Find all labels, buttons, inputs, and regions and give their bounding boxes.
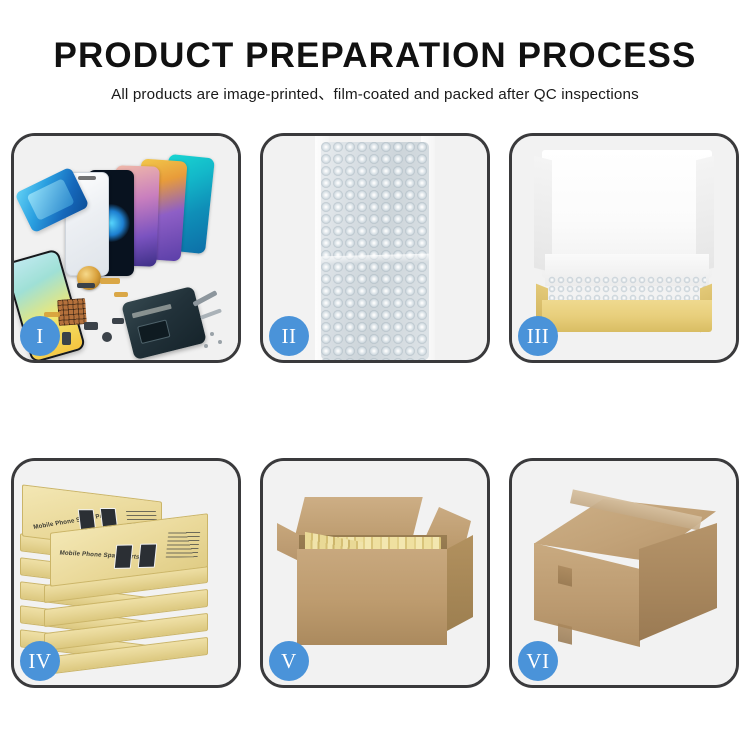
small-part-bracket <box>112 318 124 324</box>
carton-flap-tab-upper <box>558 565 572 586</box>
step-badge-5: V <box>269 641 309 681</box>
step-badge-2: II <box>269 316 309 356</box>
page-subtitle: All products are image-printed、film-coat… <box>0 85 750 105</box>
bubble-wrap-sheet <box>321 142 429 360</box>
step-panel-4: Mobile Phone Spare Parts Mobile Phone Sp… <box>11 458 241 688</box>
box-phone-thumb-front-1 <box>114 544 133 568</box>
screw-3 <box>204 344 208 348</box>
phone-notch <box>78 176 96 180</box>
carton-right-face <box>447 535 473 631</box>
process-steps-grid: I II III <box>11 133 739 688</box>
flex-cable-3 <box>114 292 128 297</box>
step-badge-6: VI <box>518 641 558 681</box>
small-part-connector <box>77 283 95 288</box>
carton-flap-tab-lower <box>558 623 572 644</box>
flex-cable-1 <box>100 278 120 284</box>
step-badge-3: III <box>518 316 558 356</box>
step-panel-5: V <box>260 458 490 688</box>
sealed-carton-front-face <box>534 543 640 647</box>
screw-2 <box>218 340 222 344</box>
step-panel-1: I <box>11 133 241 363</box>
step-panel-3: III <box>509 133 739 363</box>
step-badge-1: I <box>20 316 60 356</box>
chip-array <box>57 298 87 326</box>
screw-1 <box>210 332 214 336</box>
step-panel-6: VI <box>509 458 739 688</box>
header: PRODUCT PREPARATION PROCESS All products… <box>0 36 750 105</box>
product-preparation-infographic: PRODUCT PREPARATION PROCESS All products… <box>0 0 750 750</box>
small-part-button <box>102 332 112 342</box>
page-title: PRODUCT PREPARATION PROCESS <box>0 36 750 76</box>
mailer-box-front-panel <box>542 300 712 332</box>
small-part-battery <box>62 332 71 345</box>
box-spec-lines-front <box>166 531 201 558</box>
carton-front-face <box>297 549 447 645</box>
step-panel-2: II <box>260 133 490 363</box>
box-phone-thumb-front-2 <box>138 543 157 567</box>
step-badge-4: IV <box>20 641 60 681</box>
small-part-camera <box>84 322 98 330</box>
